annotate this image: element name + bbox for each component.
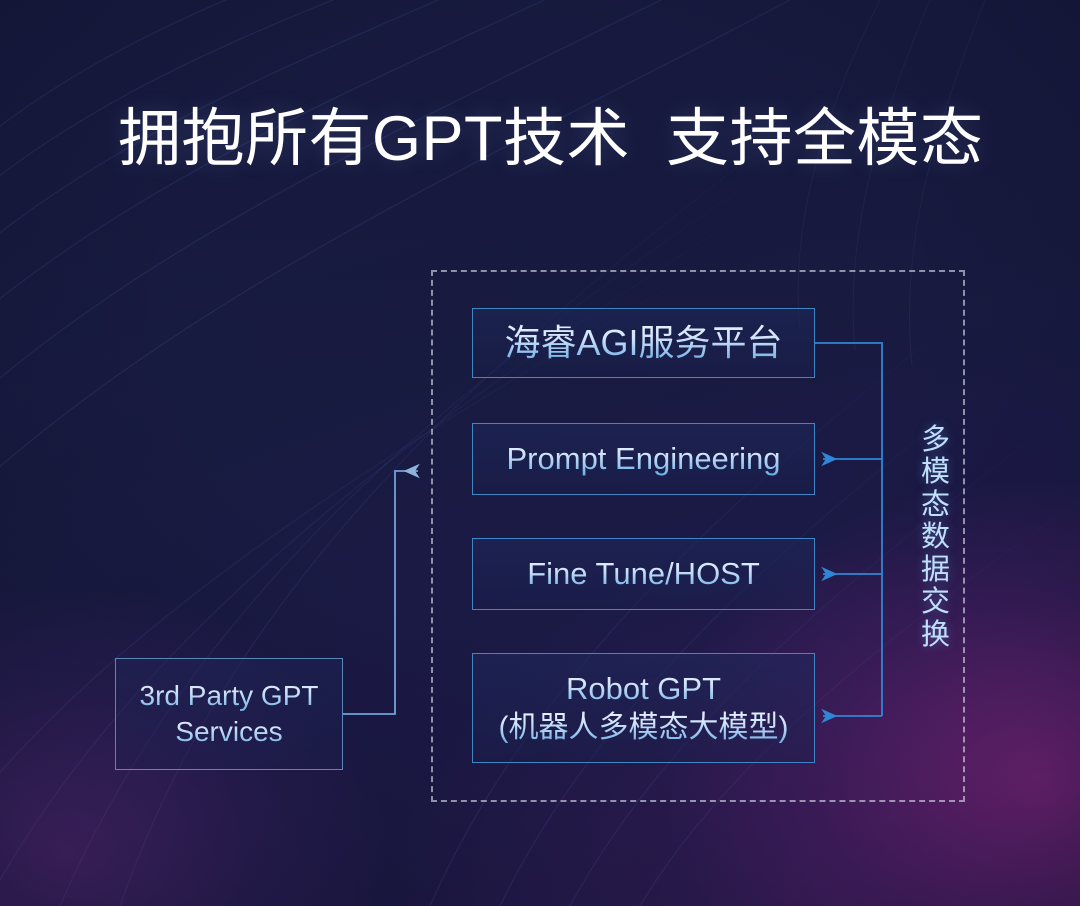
node-prompt-engineering-label: Prompt Engineering <box>507 441 781 477</box>
node-fine-tune-host[interactable]: Fine Tune/HOST <box>472 538 815 610</box>
node-fine-tune-host-label: Fine Tune/HOST <box>527 556 760 592</box>
node-third-party-line1: 3rd Party GPT <box>140 678 319 714</box>
connector-thirdparty-to-platform <box>343 471 418 714</box>
connector-platform-bus <box>815 343 882 716</box>
slide-canvas: 拥抱所有GPT技术 支持全模态 海睿AGI服务平台 <box>0 0 1080 906</box>
node-robot-gpt-subtitle: (机器人多模态大模型) <box>499 709 789 747</box>
node-agi-platform[interactable]: 海睿AGI服务平台 <box>472 308 815 378</box>
vertical-label-multimodal-data-exchange: 多 模 态 数 据 交 换 <box>916 424 956 651</box>
node-agi-platform-label: 海睿AGI服务平台 <box>504 322 782 363</box>
architecture-diagram: 海睿AGI服务平台 Prompt Engineering Fine Tune/H… <box>0 0 1080 906</box>
node-robot-gpt[interactable]: Robot GPT (机器人多模态大模型) <box>472 653 815 763</box>
node-prompt-engineering[interactable]: Prompt Engineering <box>472 423 815 495</box>
node-third-party-line2: Services <box>175 714 282 750</box>
node-third-party-gpt-services[interactable]: 3rd Party GPT Services <box>115 658 343 770</box>
node-robot-gpt-title: Robot GPT <box>566 670 721 709</box>
